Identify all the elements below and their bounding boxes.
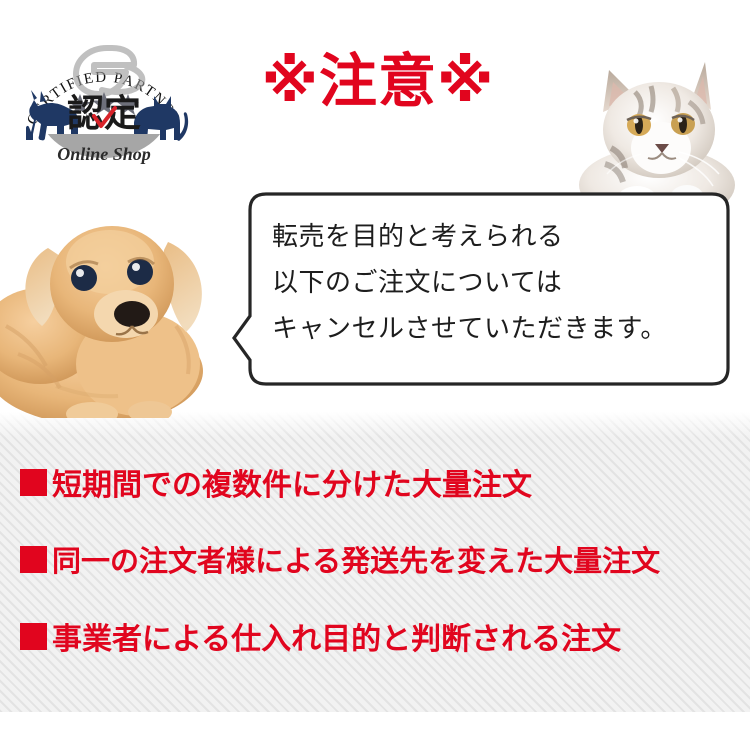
bullet-item-2-label: 同一の注文者様による発送先を変えた大量注文	[52, 538, 660, 580]
certified-partner-logo: CERTIFIED PARTNER	[14, 16, 194, 164]
bullet-item-2: 同一の注文者様による発送先を変えた大量注文	[20, 539, 736, 579]
logo-kanji-text: 認定	[67, 92, 141, 135]
logo-ribbon-label: Online Shop	[57, 144, 151, 164]
notice-bullet-list: 短期間での複数件に分けた大量注文 同一の注文者様による発送先を変えた大量注文 事…	[20, 462, 736, 656]
speech-bubble-text: 転売を目的と考えられる 以下のご注文については キャンセルさせていただきます。	[272, 214, 722, 352]
speech-bubble: 転売を目的と考えられる 以下のご注文については キャンセルさせていただきます。	[232, 190, 732, 390]
cat-photo	[575, 40, 750, 205]
bubble-line-1: 転売を目的と考えられる	[272, 214, 722, 260]
dog-photo	[0, 186, 250, 418]
bubble-line-2: 以下のご注文については	[272, 260, 722, 306]
square-bullet-icon	[20, 469, 47, 496]
square-bullet-icon	[20, 546, 47, 573]
square-bullet-icon	[20, 623, 47, 650]
bullet-item-1-label: 短期間での複数件に分けた大量注文	[52, 460, 532, 504]
notice-banner: CERTIFIED PARTNER	[0, 0, 750, 750]
bullet-item-1: 短期間での複数件に分けた大量注文	[20, 462, 736, 502]
bullet-item-3: 事業者による仕入れ目的と判断される注文	[20, 616, 736, 656]
bullet-item-3-label: 事業者による仕入れ目的と判断される注文	[52, 614, 621, 658]
page-title: ※注意※	[243, 52, 513, 110]
bubble-line-3: キャンセルさせていただきます。	[272, 306, 722, 352]
